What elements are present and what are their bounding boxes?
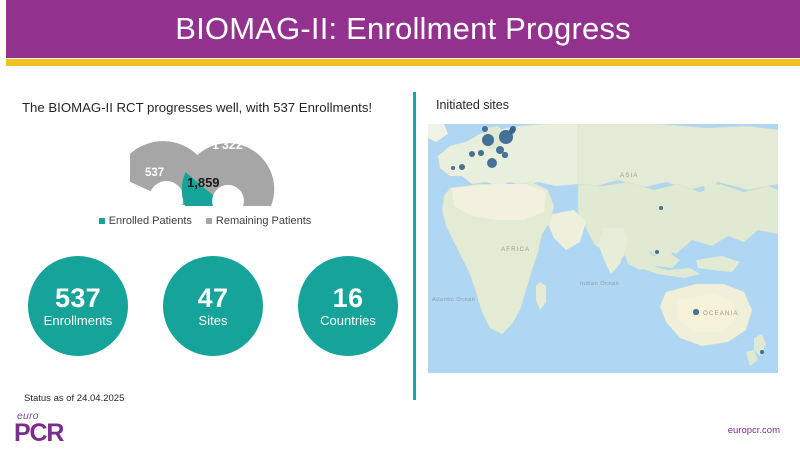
gauge-arc-group: [182, 143, 274, 206]
map-site-bubble[interactable]: [502, 152, 507, 157]
map-landmass-svg: [428, 124, 778, 373]
header-bar: BIOMAG-II: Enrollment Progress: [6, 0, 800, 58]
kpi-countries-label: Countries: [320, 314, 376, 328]
logo-pcr-text: PCR: [14, 419, 63, 448]
status-text: Status as of 24.04.2025: [24, 393, 124, 404]
map-site-bubble[interactable]: [693, 309, 698, 314]
legend-swatch-icon-remaining: [206, 218, 212, 224]
lead-text: The BIOMAG-II RCT progresses well, with …: [22, 100, 402, 115]
map-site-bubble[interactable]: [482, 126, 488, 132]
kpi-sites-label: Sites: [199, 314, 228, 328]
legend-label-enrolled: Enrolled Patients: [109, 215, 192, 227]
legend-item-remaining: Remaining Patients: [206, 215, 311, 227]
header-accent-rule: [6, 59, 800, 66]
footer-url: europcr.com: [728, 425, 780, 436]
kpi-sites-value: 47: [198, 284, 229, 312]
initiated-sites-map[interactable]: ASIA AFRICA OCEANIA Indian Ocean Atlanti…: [428, 124, 778, 373]
slide-root: BIOMAG-II: Enrollment Progress The BIOMA…: [0, 0, 800, 450]
kpi-countries: 16 Countries: [298, 256, 398, 356]
kpi-sites: 47 Sites: [163, 256, 263, 356]
map-site-bubble[interactable]: [478, 150, 484, 156]
kpi-countries-value: 16: [333, 284, 364, 312]
panel-title-initiated-sites: Initiated sites: [436, 98, 509, 112]
panel-divider: [413, 92, 416, 400]
europcr-logo: euro PCR: [14, 410, 84, 446]
legend-swatch-icon-enrolled: [99, 218, 105, 224]
kpi-row: 537 Enrollments 47 Sites 16 Countries: [28, 254, 398, 358]
kpi-enrollments-value: 537: [55, 284, 101, 312]
gauge-svg: [130, 125, 290, 215]
page-title: BIOMAG-II: Enrollment Progress: [6, 0, 800, 58]
map-landmass-siberia: [578, 124, 778, 190]
legend-label-remaining: Remaining Patients: [216, 215, 311, 227]
legend-item-enrolled: Enrolled Patients: [99, 215, 192, 227]
kpi-enrollments-label: Enrollments: [44, 314, 113, 328]
left-panel: The BIOMAG-II RCT progresses well, with …: [0, 70, 410, 450]
enrollment-gauge-chart: 537 1'322 1,859: [130, 125, 290, 215]
right-panel: Initiated sites: [410, 70, 800, 450]
chart-legend: Enrolled Patients Remaining Patients: [0, 215, 410, 227]
map-site-bubble[interactable]: [510, 126, 515, 131]
map-site-bubble[interactable]: [459, 164, 465, 170]
kpi-enrollments: 537 Enrollments: [28, 256, 128, 356]
